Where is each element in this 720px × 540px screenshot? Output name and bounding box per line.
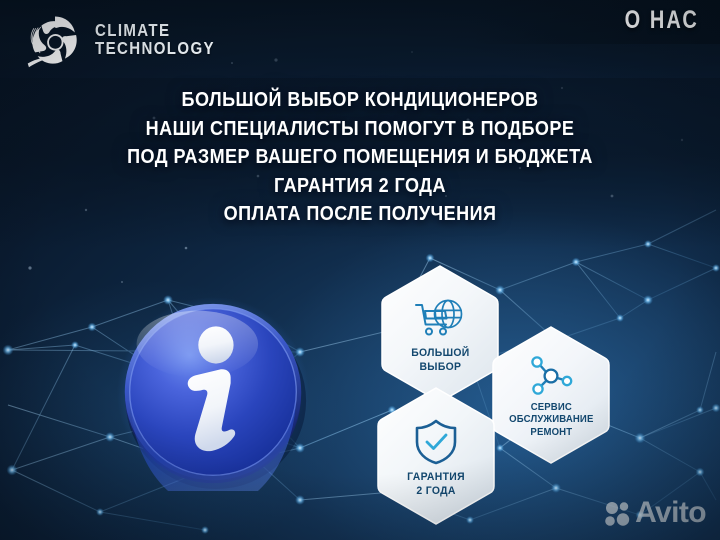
vortex-fan-logo-icon xyxy=(24,9,86,71)
poster-canvas: CLIMATE TECHNOLOGY О НАС БОЛЬШОЙ ВЫБОР К… xyxy=(0,0,720,540)
badge-label-line: РЕМОНТ xyxy=(509,427,593,440)
badge-label-line: ГАРАНТИЯ xyxy=(407,471,465,484)
avito-watermark: Avito xyxy=(604,498,706,528)
badge-label: СЕРВИС ОБСЛУЖИВАНИЕ РЕМОНТ xyxy=(509,402,593,440)
headline-line: ОПЛАТА ПОСЛЕ ПОЛУЧЕНИЯ xyxy=(43,200,677,229)
page-header: CLIMATE TECHNOLOGY О НАС xyxy=(0,0,720,86)
brand-line-2: TECHNOLOGY xyxy=(95,40,215,58)
headline-line: БОЛЬШОЙ ВЫБОР КОНДИЦИОНЕРОВ xyxy=(43,86,677,115)
avito-dots-icon xyxy=(604,500,631,527)
brand-logo-wordmark: CLIMATE TECHNOLOGY xyxy=(95,22,215,58)
headline-line: НАШИ СПЕЦИАЛИСТЫ ПОМОГУТ В ПОДБОРЕ xyxy=(43,115,677,144)
badge-big-choice[interactable]: БОЛЬШОЙ ВЫБОР xyxy=(379,264,501,404)
badge-label: ГАРАНТИЯ 2 ГОДА xyxy=(407,471,465,498)
brand-logo[interactable]: CLIMATE TECHNOLOGY xyxy=(24,9,234,71)
badge-label-line: БОЛЬШОЙ xyxy=(411,347,469,360)
badge-label-line: СЕРВИС xyxy=(509,402,593,415)
badge-label-line: 2 ГОДА xyxy=(407,485,465,498)
badge-label-line: ОБСЛУЖИВАНИЕ xyxy=(509,414,593,427)
badge-service-repair[interactable]: СЕРВИС ОБСЛУЖИВАНИЕ РЕМОНТ xyxy=(490,325,612,465)
shield-check-icon xyxy=(413,418,459,466)
shopping-cart-globe-icon xyxy=(413,298,467,342)
badge-label: БОЛЬШОЙ ВЫБОР xyxy=(411,347,469,374)
badge-warranty[interactable]: ГАРАНТИЯ 2 ГОДА xyxy=(375,386,497,526)
badge-label-line: ВЫБОР xyxy=(411,361,469,374)
information-i-icon xyxy=(115,295,311,491)
avito-wordmark: Avito xyxy=(635,498,706,528)
headline-line: ПОД РАЗМЕР ВАШЕГО ПОМЕЩЕНИЯ И БЮДЖЕТА xyxy=(43,143,677,172)
about-title: О НАС xyxy=(625,6,699,35)
headline-block: БОЛЬШОЙ ВЫБОР КОНДИЦИОНЕРОВ НАШИ СПЕЦИАЛ… xyxy=(0,86,720,229)
headline-line: ГАРАНТИЯ 2 ГОДА xyxy=(43,172,677,201)
network-nodes-icon xyxy=(526,355,576,397)
